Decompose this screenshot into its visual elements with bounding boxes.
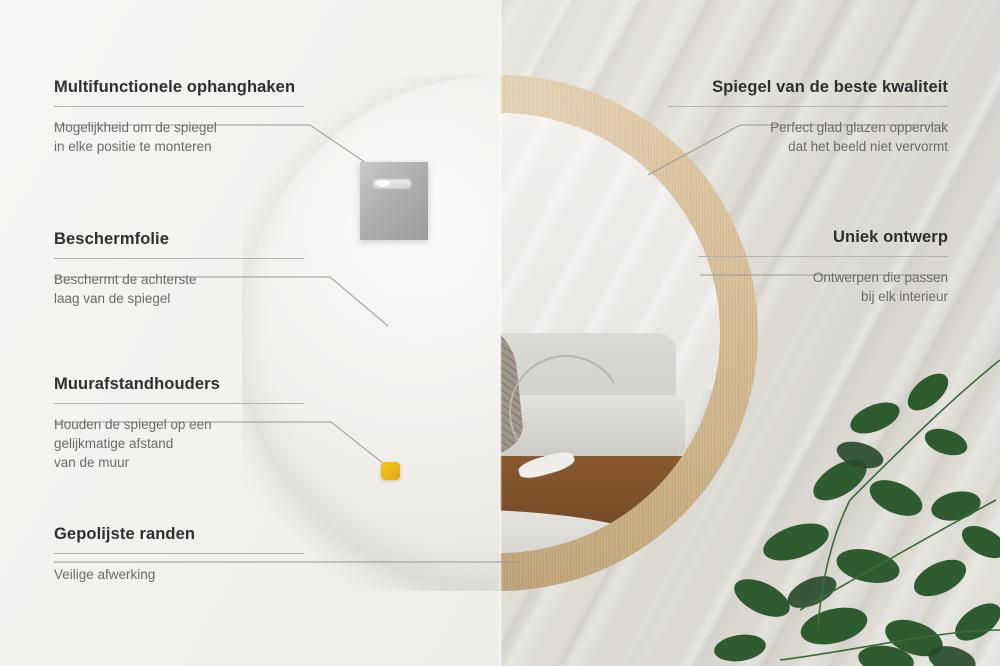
callout-body-line: Veilige afwerking xyxy=(54,567,155,582)
callout-multifunctionele-ophanghaken: Multifunctionele ophanghaken Mogelijkhei… xyxy=(54,78,304,156)
foliage-decoration xyxy=(700,330,1000,666)
callout-body: Mogelijkheid om de spiegel in elke posit… xyxy=(54,118,304,156)
callout-body: Houden de spiegel op een gelijkmatige af… xyxy=(54,415,304,472)
callout-body-line: van de muur xyxy=(54,455,129,470)
callout-muurafstandhouders: Muurafstandhouders Houden de spiegel op … xyxy=(54,375,304,472)
callout-body: Perfect glad glazen oppervlak dat het be… xyxy=(668,118,948,156)
callout-body-line: Perfect glad glazen oppervlak xyxy=(770,120,948,135)
callout-body-line: Mogelijkheid om de spiegel xyxy=(54,120,217,135)
callout-uniek-ontwerp: Uniek ontwerp Ontwerpen die passen bij e… xyxy=(698,228,948,306)
wall-spacer xyxy=(381,462,400,480)
callout-body-line: in elke positie te monteren xyxy=(54,139,212,154)
callout-rule xyxy=(54,403,304,404)
callout-body-line: gelijkmatige afstand xyxy=(54,436,173,451)
callout-body: Ontwerpen die passen bij elk interieur xyxy=(698,268,948,306)
callout-rule xyxy=(54,106,304,107)
callout-body: Beschermt de achterste laag van de spieg… xyxy=(54,270,304,308)
callout-title: Muurafstandhouders xyxy=(54,375,304,394)
callout-body-line: dat het beeld niet vervormt xyxy=(788,139,948,154)
callout-rule xyxy=(668,106,948,107)
callout-title: Uniek ontwerp xyxy=(698,228,948,247)
callout-rule xyxy=(698,256,948,257)
keyhole-slot-icon xyxy=(372,178,412,189)
callout-title: Multifunctionele ophanghaken xyxy=(54,78,304,97)
callout-body-line: laag van de spiegel xyxy=(54,291,170,306)
callout-spiegel-van-de-beste-kwaliteit: Spiegel van de beste kwaliteit Perfect g… xyxy=(668,78,948,156)
infographic-canvas: Multifunctionele ophanghaken Mogelijkhei… xyxy=(0,0,1000,666)
callout-body: Veilige afwerking xyxy=(54,565,304,584)
callout-body-line: Beschermt de achterste xyxy=(54,272,197,287)
callout-title: Gepolijste randen xyxy=(54,525,304,544)
callout-rule xyxy=(54,553,304,554)
callout-body-line: Ontwerpen die passen xyxy=(813,270,948,285)
callout-gepolijste-randen: Gepolijste randen Veilige afwerking xyxy=(54,525,304,584)
callout-title: Spiegel van de beste kwaliteit xyxy=(668,78,948,97)
callout-title: Beschermfolie xyxy=(54,230,304,249)
hanging-bracket xyxy=(360,162,428,240)
callout-body-line: bij elk interieur xyxy=(861,289,948,304)
panel-seam xyxy=(499,0,502,666)
callout-body-line: Houden de spiegel op een xyxy=(54,417,212,432)
callout-beschermfolie: Beschermfolie Beschermt de achterste laa… xyxy=(54,230,304,308)
callout-rule xyxy=(54,258,304,259)
